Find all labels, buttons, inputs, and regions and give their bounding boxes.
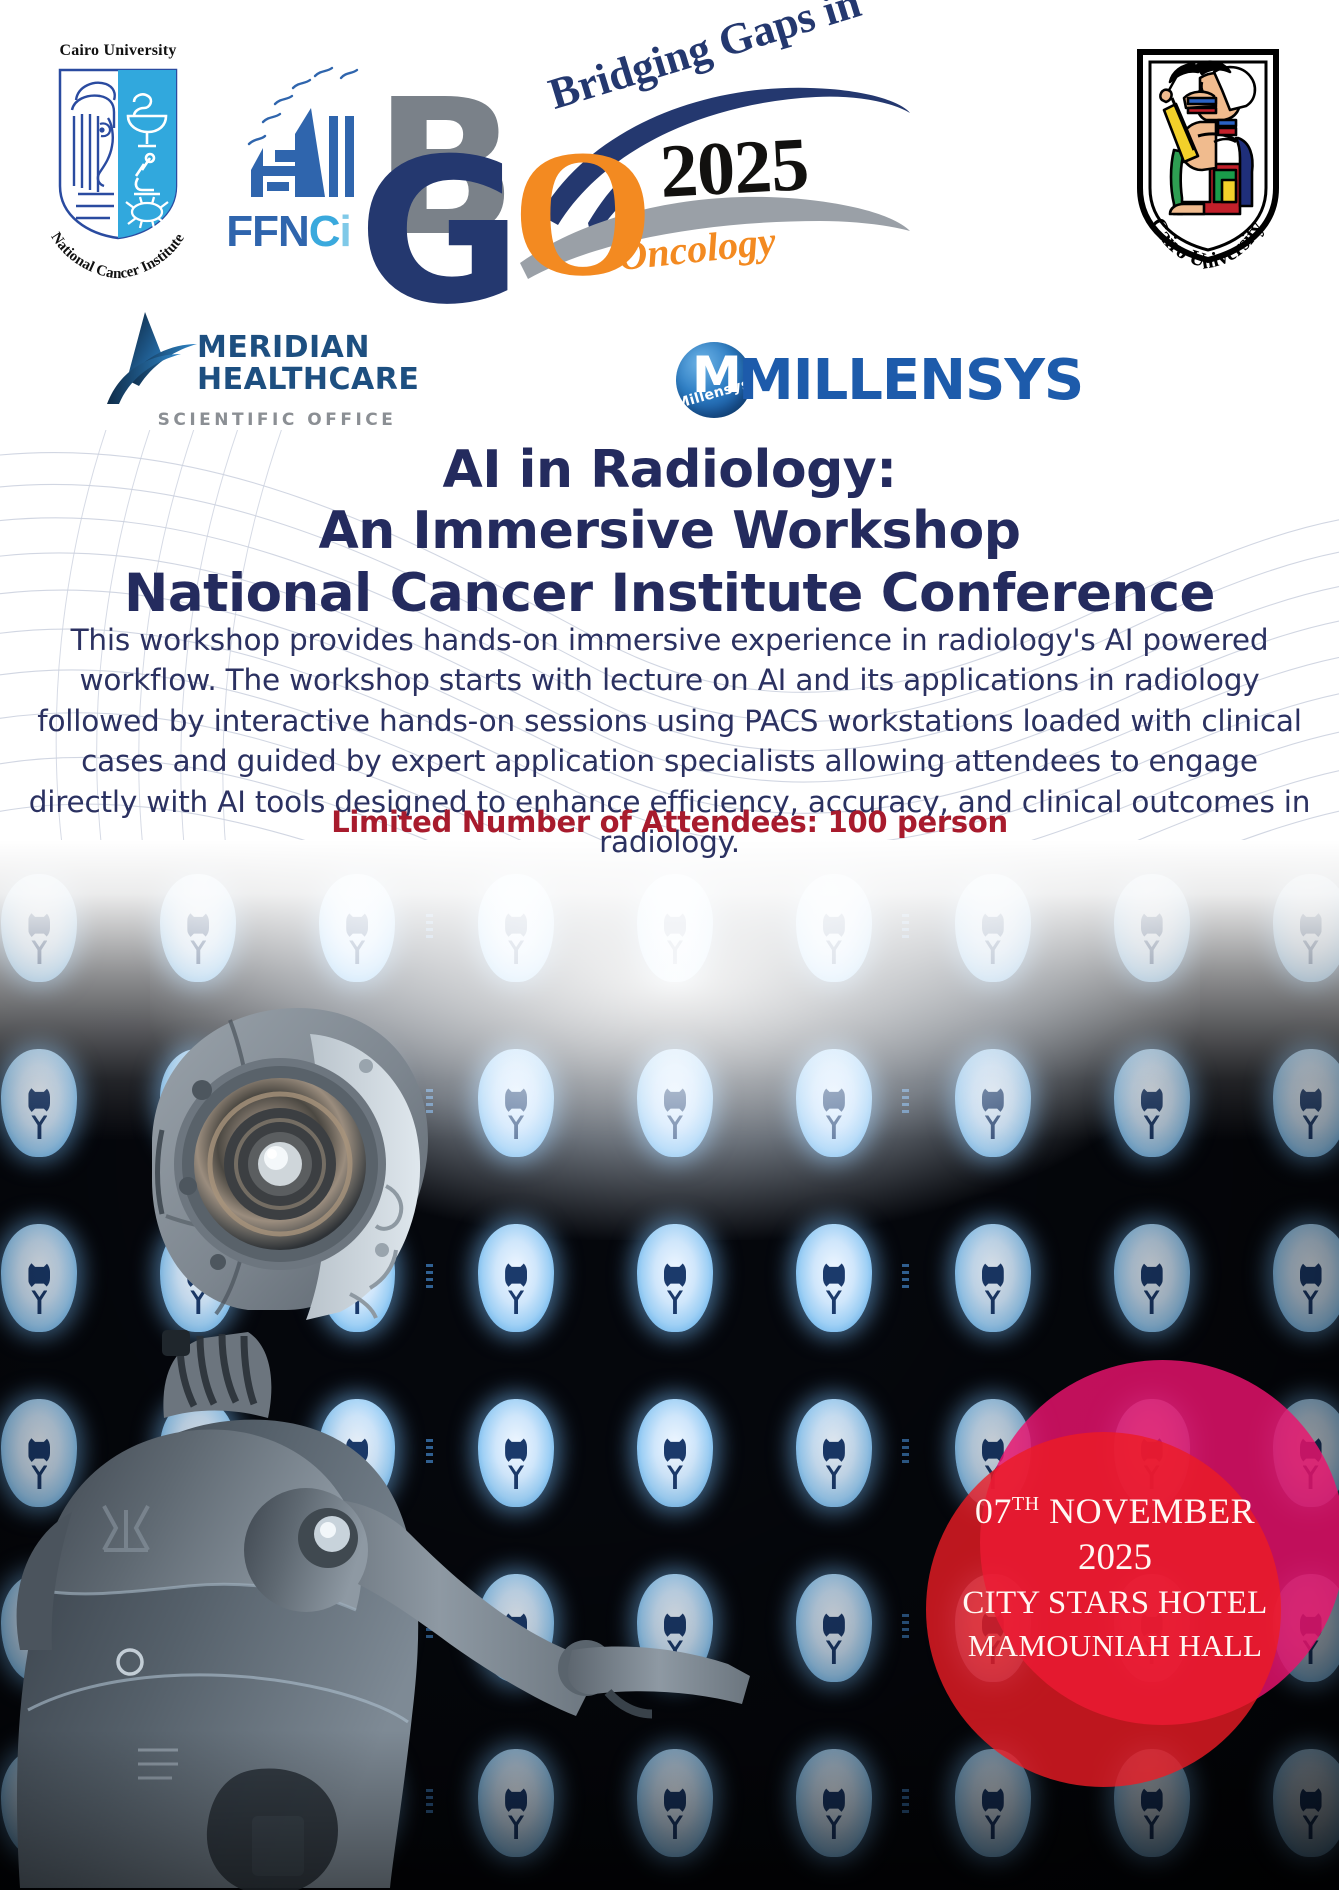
- national-cancer-institute-logo: Cairo University: [38, 42, 198, 282]
- conference-poster: Cairo University: [0, 0, 1339, 1890]
- bgo-letter-g: G: [358, 133, 522, 333]
- nci-logo-title: Cairo University: [38, 42, 198, 60]
- ffnci-wordmark-part1: FFN: [226, 207, 309, 256]
- cairo-university-shield-icon: Cairo University: [1118, 38, 1298, 278]
- nci-arc-text: National Cancer Institute: [40, 218, 196, 280]
- event-details-badge: 07TH NOVEMBER 2025 CITY STARS HOTEL MAMO…: [780, 1220, 1339, 1890]
- meridian-line2: HEALTHCARE: [197, 364, 412, 396]
- limited-attendees-notice: Limited Number of Attendees: 100 person: [0, 805, 1339, 839]
- badge-year: 2025: [930, 1534, 1300, 1582]
- headline-line-2: An Immersive Workshop: [0, 501, 1339, 562]
- ffnci-birds-monogram-icon: [215, 62, 360, 222]
- badge-text-block: 07TH NOVEMBER 2025 CITY STARS HOTEL MAMO…: [930, 1490, 1300, 1666]
- bgo-conference-logo: B G O Bridging Gaps in 2025 Oncology: [360, 45, 900, 290]
- badge-venue: CITY STARS HOTEL: [930, 1582, 1300, 1626]
- ffnci-wordmark-part3: i: [340, 207, 351, 256]
- meridian-arrow-icon: [105, 310, 197, 404]
- millensys-wordmark: MILLENSYS: [738, 348, 1083, 414]
- badge-month: NOVEMBER: [1049, 1491, 1255, 1531]
- meridian-line1: MERIDIAN: [197, 332, 412, 364]
- badge-day: 07: [975, 1491, 1012, 1531]
- poster-headline: AI in Radiology: An Immersive Workshop N…: [0, 440, 1339, 625]
- nci-shield-icon: [56, 66, 180, 241]
- millensys-logo: M Millensys MILLENSYS: [676, 342, 1016, 420]
- badge-hall: MAMOUNIAH HALL: [930, 1626, 1300, 1667]
- meridian-wordmark: MERIDIAN HEALTHCARE: [197, 332, 412, 396]
- badge-date-line: 07TH NOVEMBER: [930, 1490, 1300, 1534]
- meridian-subtitle: SCIENTIFIC OFFICE: [137, 410, 417, 430]
- badge-day-suffix: TH: [1012, 1493, 1040, 1515]
- bgo-year: 2025: [658, 121, 810, 216]
- sponsor-logo-row-primary: Cairo University: [0, 0, 1339, 300]
- meridian-healthcare-logo: MERIDIAN HEALTHCARE SCIENTIFIC OFFICE: [105, 310, 415, 435]
- ffnci-wordmark: FFNCi: [211, 210, 366, 254]
- svg-text:National Cancer Institute: National Cancer Institute: [47, 230, 188, 280]
- cairo-university-logo: Cairo University: [1118, 38, 1298, 278]
- ffnci-logo: FFNCi: [215, 62, 360, 277]
- headline-line-1: AI in Radiology:: [0, 440, 1339, 501]
- headline-line-3: National Cancer Institute Conference: [0, 563, 1339, 626]
- ffnci-wordmark-part2: C: [309, 207, 340, 256]
